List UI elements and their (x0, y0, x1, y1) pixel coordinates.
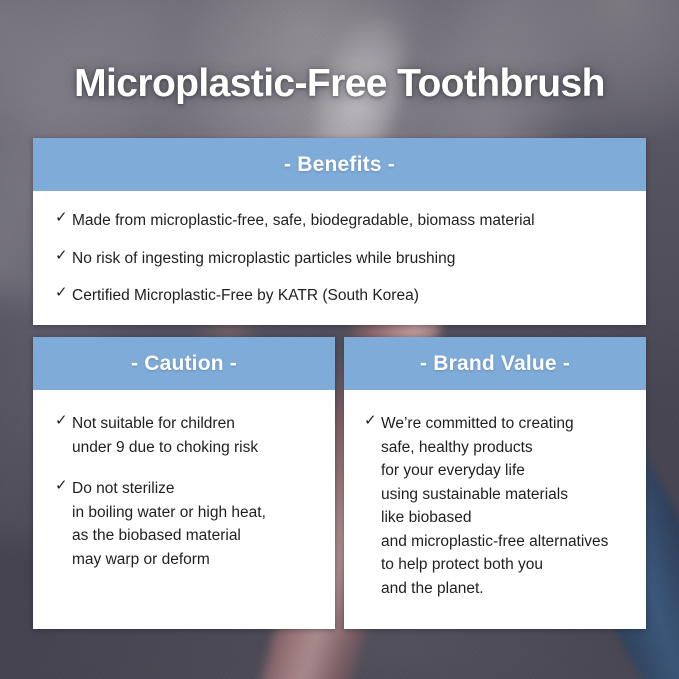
check-icon: ✓ (55, 477, 72, 494)
list-item: ✓ We’re committed to creating safe, heal… (364, 412, 634, 600)
benefits-card: - Benefits - ✓ Made from microplastic-fr… (33, 138, 646, 325)
infographic-page: Microplastic-Free Toothbrush - Benefits … (0, 0, 679, 679)
list-item-text: Do not sterilize in boiling water or hig… (72, 477, 319, 571)
list-item: ✓ No risk of ingesting microplastic part… (55, 247, 624, 271)
list-item: ✓ Made from microplastic-free, safe, bio… (55, 209, 624, 233)
list-item-text: We’re committed to creating safe, health… (381, 412, 634, 600)
check-icon: ✓ (55, 209, 72, 226)
list-item-text: Made from microplastic-free, safe, biode… (72, 209, 624, 233)
list-item-text: No risk of ingesting microplastic partic… (72, 247, 624, 271)
check-icon: ✓ (55, 247, 72, 264)
list-item: ✓ Not suitable for children under 9 due … (55, 412, 319, 459)
check-icon: ✓ (55, 412, 72, 429)
list-item: ✓ Do not sterilize in boiling water or h… (55, 477, 319, 571)
caution-card-header: - Caution - (33, 337, 335, 390)
brand-value-card-body: ✓ We’re committed to creating safe, heal… (344, 390, 646, 616)
benefits-card-body: ✓ Made from microplastic-free, safe, bio… (33, 191, 646, 324)
brand-value-card: - Brand Value - ✓ We’re committed to cre… (344, 337, 646, 629)
caution-card: - Caution - ✓ Not suitable for children … (33, 337, 335, 629)
check-icon: ✓ (364, 412, 381, 429)
caution-card-body: ✓ Not suitable for children under 9 due … (33, 390, 335, 605)
brand-value-card-header: - Brand Value - (344, 337, 646, 390)
list-item-text: Not suitable for children under 9 due to… (72, 412, 319, 459)
check-icon: ✓ (55, 284, 72, 301)
page-title: Microplastic-Free Toothbrush (0, 62, 679, 106)
list-item-text: Certified Microplastic-Free by KATR (Sou… (72, 284, 624, 308)
list-item: ✓ Certified Microplastic-Free by KATR (S… (55, 284, 624, 308)
benefits-card-header: - Benefits - (33, 138, 646, 191)
